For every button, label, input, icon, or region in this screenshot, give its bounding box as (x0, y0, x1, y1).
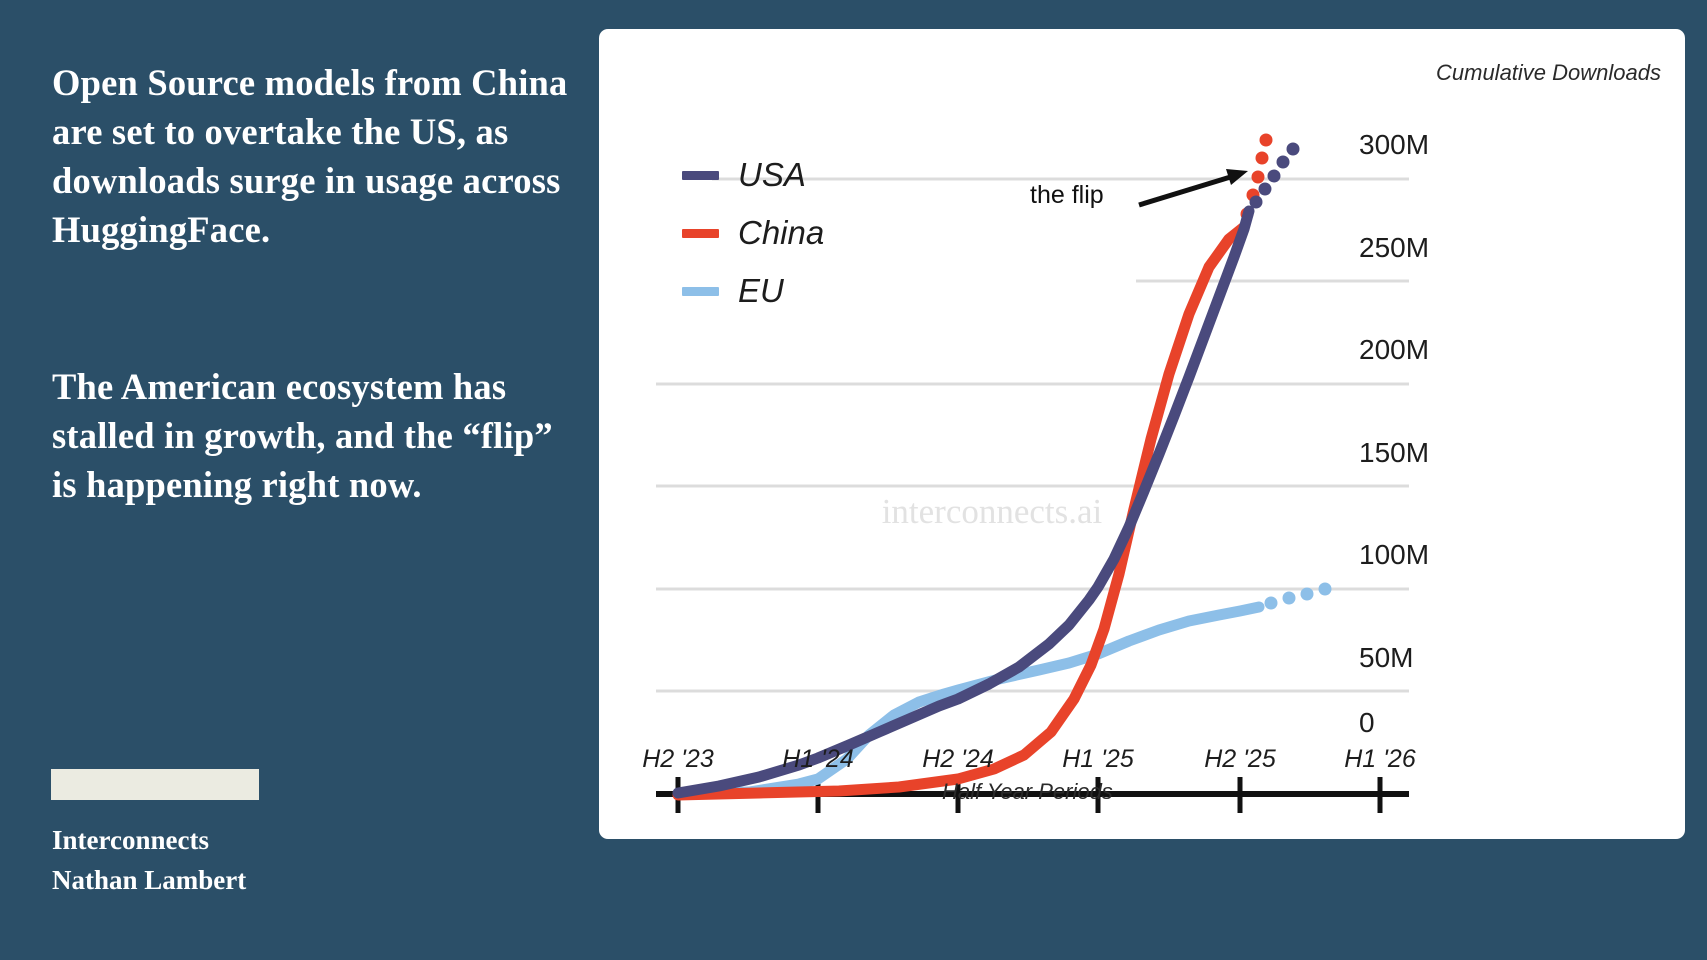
chart-card: Cumulative Downloads Half Year Periods 3… (599, 29, 1685, 839)
brand-accent-bar (51, 769, 259, 800)
ytick-label-200m: 200M (1359, 334, 1429, 366)
x-axis-title: Half Year Periods (942, 779, 1113, 805)
watermark: interconnects.ai (747, 492, 1237, 532)
flip-annotation-label: the flip (1030, 181, 1104, 210)
legend-label-usa: USA (738, 156, 806, 194)
xtick-label-h2-24: H2 '24 (922, 745, 993, 774)
legend-swatch-china-icon (682, 229, 719, 238)
ytick-label-50m: 50M (1359, 642, 1413, 674)
gridlines (656, 179, 1409, 691)
line-chart-canvas (599, 29, 1685, 839)
headline-paragraph-1: Open Source models from China are set to… (52, 58, 572, 254)
legend-item-usa[interactable]: USA (682, 156, 806, 194)
ytick-label-300m: 300M (1359, 129, 1429, 161)
slide-root: Open Source models from China are set to… (0, 0, 1707, 960)
legend-swatch-eu-icon (682, 287, 719, 296)
xtick-label-h1-26: H1 '26 (1344, 745, 1415, 774)
xtick-label-h2-23: H2 '23 (642, 745, 713, 774)
legend-item-eu[interactable]: EU (682, 272, 784, 310)
xtick-label-h1-24: H1 '24 (782, 745, 853, 774)
xtick-label-h2-25: H2 '25 (1204, 745, 1275, 774)
series-dots-eu (1265, 583, 1332, 610)
flip-arrow-icon (1139, 169, 1248, 205)
left-text-panel: Open Source models from China are set to… (0, 0, 600, 960)
y-axis-title: Cumulative Downloads (1436, 60, 1661, 86)
ytick-label-150m: 150M (1359, 437, 1429, 469)
brand-name: Interconnects (52, 820, 246, 860)
legend-label-eu: EU (738, 272, 784, 310)
ytick-label-0: 0 (1359, 707, 1375, 739)
legend-item-china[interactable]: China (682, 214, 824, 252)
author-name: Nathan Lambert (52, 860, 246, 900)
xtick-label-h1-25: H1 '25 (1062, 745, 1133, 774)
brand-credit: Interconnects Nathan Lambert (52, 820, 246, 900)
ytick-label-250m: 250M (1359, 232, 1429, 264)
legend-label-china: China (738, 214, 824, 252)
legend-swatch-usa-icon (682, 171, 719, 180)
ytick-label-100m: 100M (1359, 539, 1429, 571)
headline-paragraph-2: The American ecosystem has stalled in gr… (52, 362, 572, 509)
